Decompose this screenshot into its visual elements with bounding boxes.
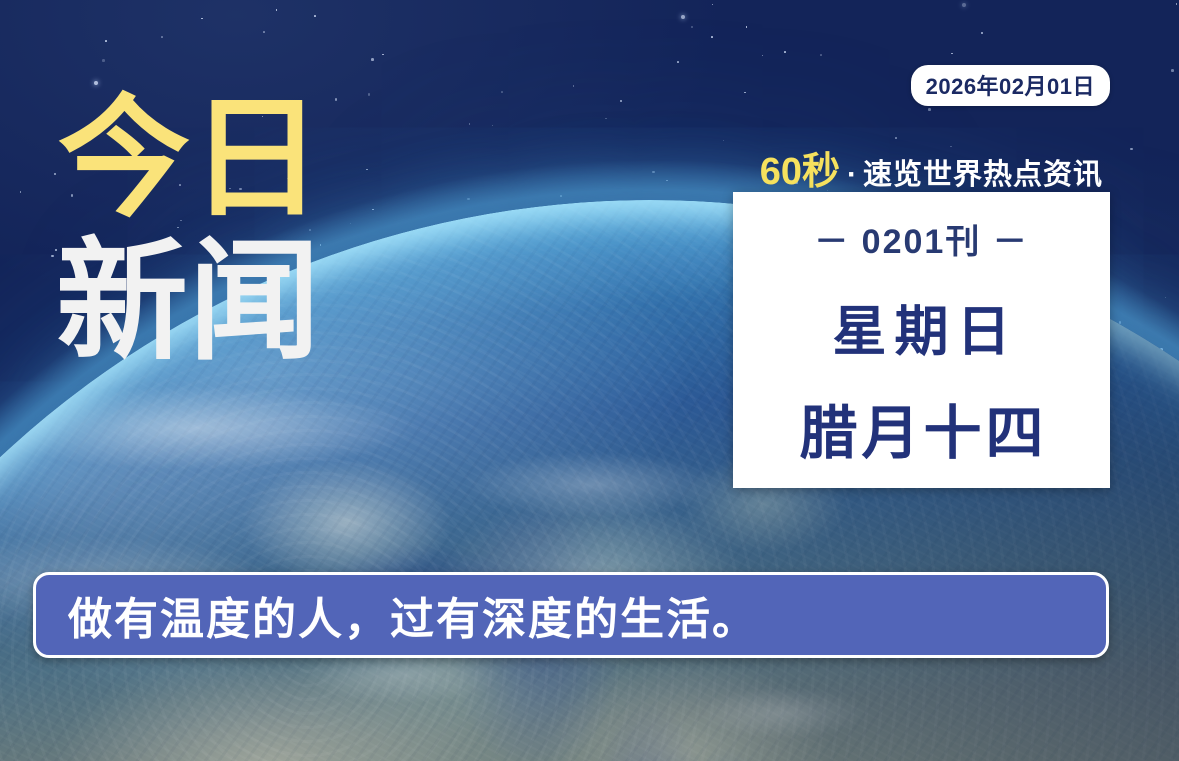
star-icon (350, 223, 352, 225)
star-icon (573, 85, 575, 87)
star-icon (928, 108, 931, 111)
star-icon (1171, 69, 1174, 72)
star-icon (51, 255, 54, 258)
star-icon (744, 92, 746, 94)
tagline-description: 速览世界热点资讯 (863, 159, 1103, 191)
star-icon (366, 169, 368, 171)
star-icon (605, 118, 607, 120)
star-icon (492, 125, 494, 127)
date-info-card: － 0201刊 － 星期日 腊月十四 (733, 192, 1110, 488)
page-title: 今日 新闻 (58, 96, 323, 365)
star-icon (711, 36, 713, 38)
star-icon (652, 171, 655, 174)
slogan-banner: 做有温度的人，过有深度的生活。 (33, 572, 1109, 658)
tagline-separator: · (847, 158, 858, 191)
star-icon (501, 91, 503, 93)
star-icon (467, 198, 470, 201)
star-icon (784, 51, 786, 53)
star-icon (102, 59, 105, 62)
issue-number: － 0201刊 － (814, 214, 1029, 263)
tagline-seconds: 60秒 (760, 151, 840, 193)
star-icon (372, 209, 374, 211)
star-icon (314, 15, 316, 17)
star-icon (368, 93, 371, 96)
star-icon (620, 100, 623, 103)
star-icon (469, 123, 471, 125)
star-icon (677, 61, 679, 63)
star-icon (1130, 148, 1133, 151)
star-icon (666, 180, 668, 182)
star-icon (723, 140, 725, 142)
slogan-text: 做有温度的人，过有深度的生活。 (68, 583, 758, 647)
star-icon (1165, 297, 1167, 299)
star-icon (263, 31, 265, 33)
star-icon (746, 26, 748, 28)
news-poster: 今日 新闻 2026年02月01日 60秒·速览世界热点资讯 － 0201刊 －… (0, 0, 1179, 761)
star-icon (20, 191, 22, 193)
star-icon (54, 173, 57, 176)
star-icon (820, 54, 822, 56)
star-icon (276, 9, 278, 11)
star-icon (105, 40, 107, 42)
star-icon (712, 4, 714, 6)
page-title-line-1: 今日 (58, 96, 323, 223)
star-icon (681, 15, 685, 19)
star-icon (762, 55, 764, 57)
page-title-line-2: 新闻 (56, 239, 323, 366)
star-icon (161, 36, 163, 38)
star-icon (1176, 3, 1178, 5)
lunar-date-label: 腊月十四 (795, 386, 1047, 470)
star-icon (371, 58, 374, 61)
star-icon (981, 32, 984, 35)
star-icon (895, 137, 897, 139)
star-icon (335, 98, 338, 101)
star-icon (382, 54, 384, 56)
tagline: 60秒·速览世界热点资讯 (760, 140, 1103, 195)
star-icon (201, 18, 203, 20)
star-icon (962, 3, 966, 7)
date-badge: 2026年02月01日 (911, 65, 1110, 106)
weekday-label: 星期日 (825, 287, 1019, 366)
star-icon (691, 26, 694, 29)
star-icon (560, 195, 562, 197)
star-icon (951, 53, 953, 55)
